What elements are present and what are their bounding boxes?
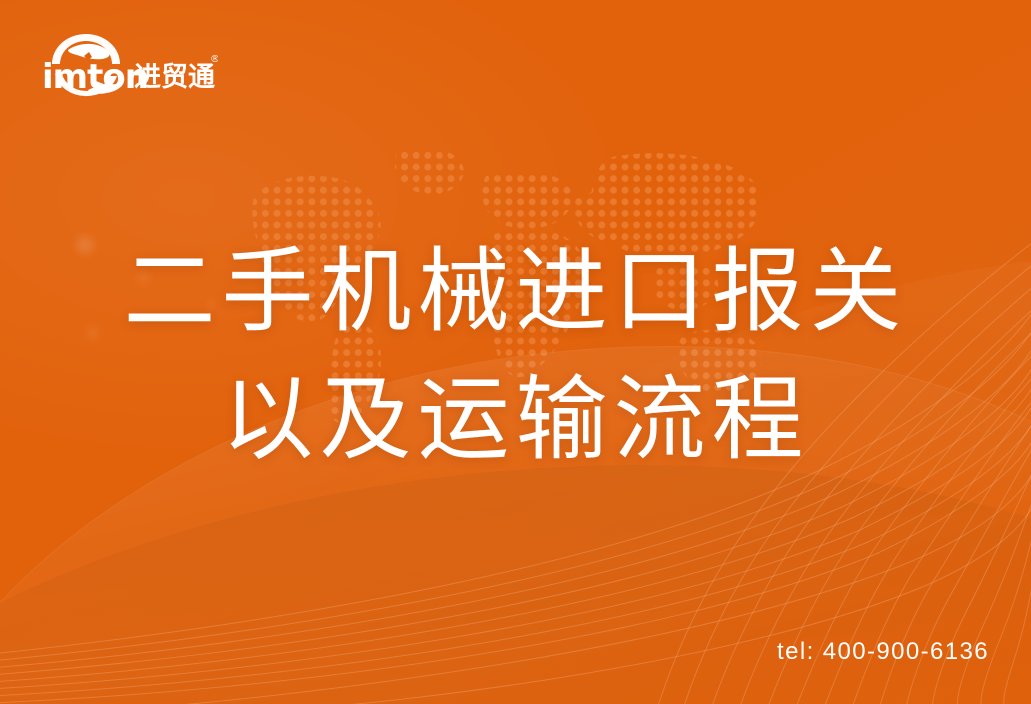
poster-slide: imton 进贸通 ® 二手机械进口报关 以及运输流程 tel: 400-900… <box>0 0 1031 704</box>
registered-trademark-icon: ® <box>210 54 218 65</box>
title-line-2: 以及运输流程 <box>0 356 1031 484</box>
title-line-1: 二手机械进口报关 <box>0 228 1031 356</box>
logo-chinese-name: 进贸通 <box>134 62 215 93</box>
contact-telephone[interactable]: tel: 400-900-6136 <box>777 638 989 666</box>
imton-logo[interactable]: imton 进贸通 ® <box>38 26 218 102</box>
page-title: 二手机械进口报关 以及运输流程 <box>0 228 1031 484</box>
logo-wordmark: imton <box>42 57 148 97</box>
